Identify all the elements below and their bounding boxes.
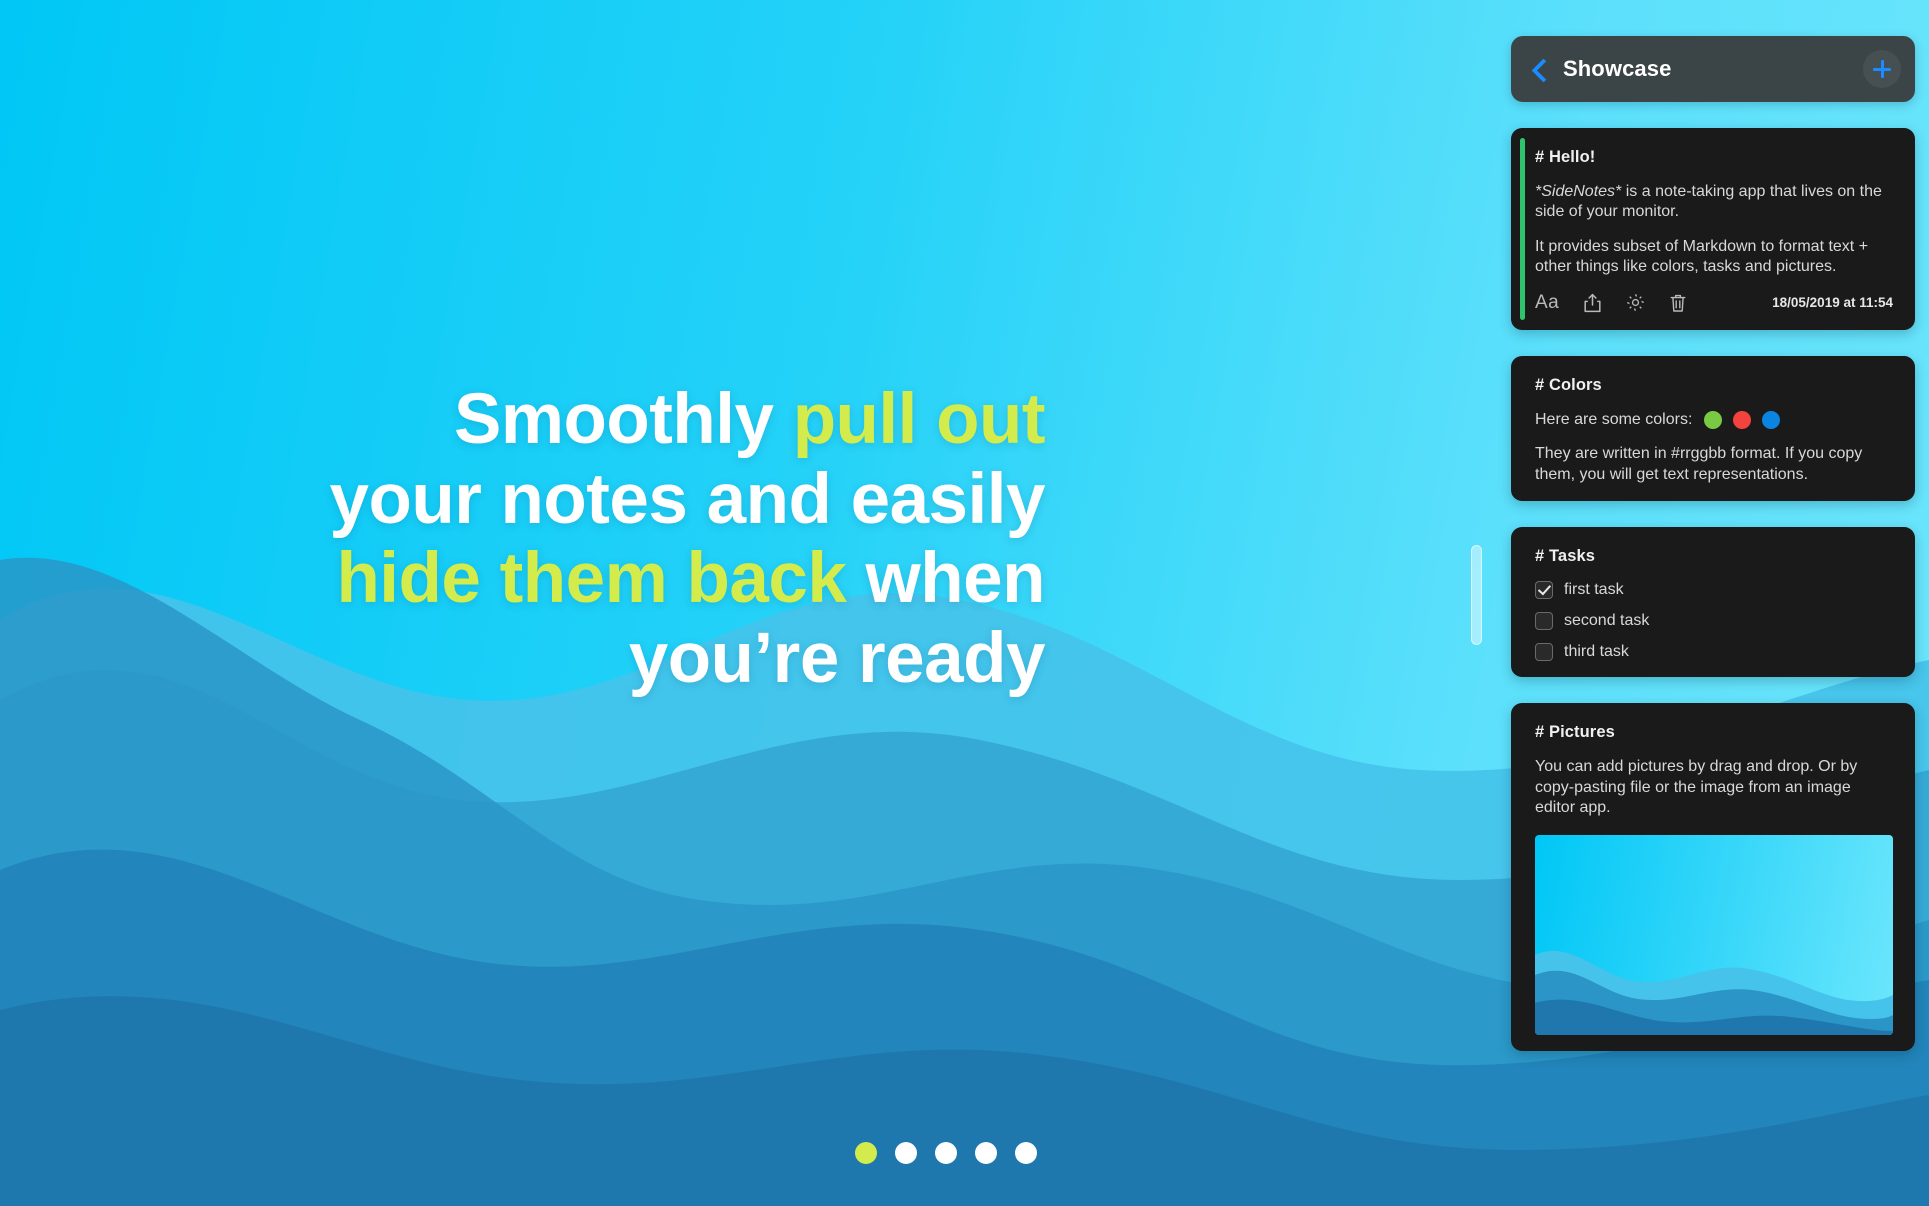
headline-accent-text: hide them back [336, 539, 846, 618]
share-icon[interactable] [1583, 293, 1602, 313]
headline-accent-text: pull out [793, 380, 1045, 459]
note-paragraph: *SideNotes* is a note-taking app that li… [1535, 182, 1893, 223]
note-title: # Tasks [1535, 547, 1893, 566]
task-row[interactable]: third task [1535, 643, 1893, 661]
pagination-dot-3[interactable] [935, 1142, 957, 1164]
note-paragraph: They are written in #rrggbb format. If y… [1535, 444, 1893, 485]
note-card[interactable]: # Hello!*SideNotes* is a note-taking app… [1511, 128, 1915, 330]
chevron-left-icon[interactable] [1529, 59, 1549, 79]
checkbox-unchecked-icon[interactable] [1535, 643, 1553, 661]
panel-header: Showcase [1511, 36, 1915, 102]
task-row[interactable]: first task [1535, 581, 1893, 599]
note-tool-icons: Aa [1535, 292, 1687, 314]
pagination-dot-5[interactable] [1015, 1142, 1037, 1164]
note-card[interactable]: # PicturesYou can add pictures by drag a… [1511, 703, 1915, 1050]
note-card[interactable]: # Tasksfirst tasksecond taskthird task [1511, 527, 1915, 677]
note-image-thumbnail[interactable] [1535, 835, 1893, 1035]
color-swatch-2[interactable] [1733, 411, 1751, 429]
headline-line-0: Smoothly pull out [0, 380, 1045, 460]
plus-icon [1872, 59, 1892, 79]
task-label: second task [1564, 612, 1649, 630]
pagination-dot-1[interactable] [855, 1142, 877, 1164]
pagination-dot-4[interactable] [975, 1142, 997, 1164]
headline-line-2: hide them back when [0, 539, 1045, 619]
note-accent-bar [1520, 138, 1525, 320]
note-timestamp: 18/05/2019 at 11:54 [1772, 295, 1893, 310]
checkbox-checked-icon[interactable] [1535, 581, 1553, 599]
panel-title: Showcase [1563, 56, 1863, 82]
add-note-button[interactable] [1863, 50, 1901, 88]
task-row[interactable]: second task [1535, 612, 1893, 630]
note-title: # Pictures [1535, 723, 1893, 742]
note-paragraph: You can add pictures by drag and drop. O… [1535, 757, 1893, 818]
colors-intro-text: Here are some colors: [1535, 410, 1692, 430]
colors-row: Here are some colors: [1535, 410, 1893, 430]
note-title: # Colors [1535, 376, 1893, 395]
headline-line-3: you’re ready [0, 619, 1045, 699]
note-toolbar: Aa18/05/2019 at 11:54 [1535, 292, 1893, 314]
note-card[interactable]: # ColorsHere are some colors:They are wr… [1511, 356, 1915, 501]
pagination-dot-2[interactable] [895, 1142, 917, 1164]
checkbox-unchecked-icon[interactable] [1535, 612, 1553, 630]
headline-line-1: your notes and easily [0, 460, 1045, 540]
sidenotes-panel: Showcase # Hello!*SideNotes* is a note-t… [1489, 0, 1929, 1206]
task-label: first task [1564, 581, 1624, 599]
panel-scrollbar[interactable] [1471, 545, 1482, 645]
headline-text: your notes and easily [329, 460, 1045, 539]
pagination-dots[interactable] [855, 1142, 1037, 1164]
italic-text: *SideNotes* [1535, 183, 1621, 200]
task-label: third task [1564, 643, 1629, 661]
note-title: # Hello! [1535, 148, 1893, 167]
note-paragraph: It provides subset of Markdown to format… [1535, 237, 1893, 278]
color-swatch-1[interactable] [1704, 411, 1722, 429]
font-icon[interactable]: Aa [1535, 292, 1559, 314]
headline-text: Smoothly [454, 380, 793, 459]
trash-icon[interactable] [1669, 293, 1687, 313]
page-title: Smoothly pull outyour notes and easilyhi… [0, 380, 1045, 698]
color-swatch-3[interactable] [1762, 411, 1780, 429]
notes-list: # Hello!*SideNotes* is a note-taking app… [1511, 128, 1915, 1051]
color-swatches [1704, 411, 1780, 429]
gear-icon[interactable] [1626, 293, 1645, 312]
headline-text: when [846, 539, 1045, 618]
headline-text: you’re ready [629, 619, 1045, 698]
